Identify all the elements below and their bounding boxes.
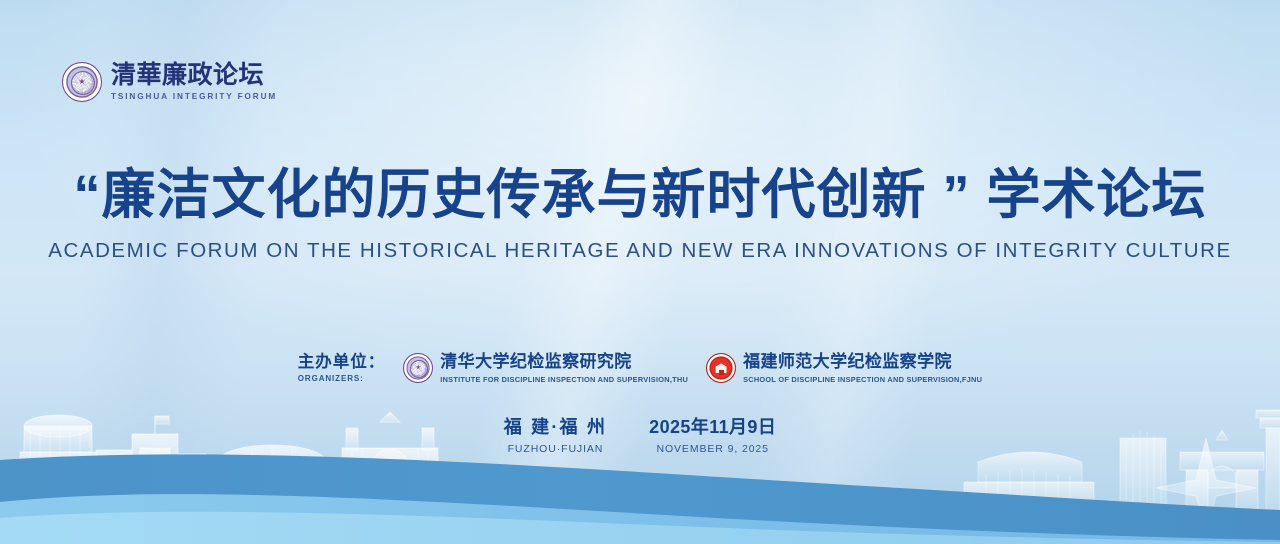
organizer-thu-name-cn: 清华大学纪检监察研究院: [440, 352, 688, 372]
organizers-row: 主办单位： ORGANIZERS: 清华大学纪检监察研究院 INSTITUTE …: [0, 352, 1280, 384]
poster-banner: 清華廉政论坛 TSINGHUA INTEGRITY FORUM “廉洁文化的历史…: [0, 0, 1280, 544]
organizers-label: 主办单位： ORGANIZERS:: [298, 353, 386, 383]
event-location: 福 建·福 州 FUZHOU·FUJIAN: [504, 417, 607, 455]
forum-logo: 清華廉政论坛 TSINGHUA INTEGRITY FORUM: [62, 62, 277, 102]
event-location-cn: 福 建·福 州: [504, 417, 607, 439]
forum-logo-text: 清華廉政论坛 TSINGHUA INTEGRITY FORUM: [111, 63, 277, 102]
page-subtitle: ACADEMIC FORUM ON THE HISTORICAL HERITAG…: [0, 239, 1280, 263]
organizer-fjnu-names: 福建师范大学纪检监察学院 SCHOOL OF DISCIPLINE INSPEC…: [743, 352, 982, 384]
forum-logo-name-en: TSINGHUA INTEGRITY FORUM: [111, 92, 277, 101]
event-date: 2025年11月9日 NOVEMBER 9, 2025: [649, 417, 776, 455]
event-date-cn: 2025年11月9日: [649, 417, 776, 439]
forum-logo-name-cn: 清華廉政论坛: [111, 63, 277, 90]
organizer-item-thu: 清华大学纪检监察研究院 INSTITUTE FOR DISCIPLINE INS…: [403, 352, 688, 384]
tsinghua-seal-icon: [403, 353, 433, 383]
organizer-thu-name-en: INSTITUTE FOR DISCIPLINE INSPECTION AND …: [440, 375, 688, 384]
fjnu-seal-icon: [706, 353, 736, 383]
organizers-label-cn: 主办单位：: [298, 353, 386, 372]
event-meta-row: 福 建·福 州 FUZHOU·FUJIAN 2025年11月9日 NOVEMBE…: [0, 417, 1280, 455]
organizer-fjnu-name-cn: 福建师范大学纪检监察学院: [743, 352, 982, 372]
organizers-label-en: ORGANIZERS:: [298, 374, 364, 383]
tsinghua-seal-icon: [62, 62, 102, 102]
page-title: “廉洁文化的历史传承与新时代创新 ” 学术论坛: [0, 165, 1280, 225]
title-block: “廉洁文化的历史传承与新时代创新 ” 学术论坛 ACADEMIC FORUM O…: [0, 165, 1280, 263]
event-date-en: NOVEMBER 9, 2025: [649, 443, 776, 455]
event-location-en: FUZHOU·FUJIAN: [504, 443, 607, 455]
organizer-item-fjnu: 福建师范大学纪检监察学院 SCHOOL OF DISCIPLINE INSPEC…: [706, 352, 982, 384]
organizer-thu-names: 清华大学纪检监察研究院 INSTITUTE FOR DISCIPLINE INS…: [440, 352, 688, 384]
organizer-fjnu-name-en: SCHOOL OF DISCIPLINE INSPECTION AND SUPE…: [743, 375, 982, 384]
